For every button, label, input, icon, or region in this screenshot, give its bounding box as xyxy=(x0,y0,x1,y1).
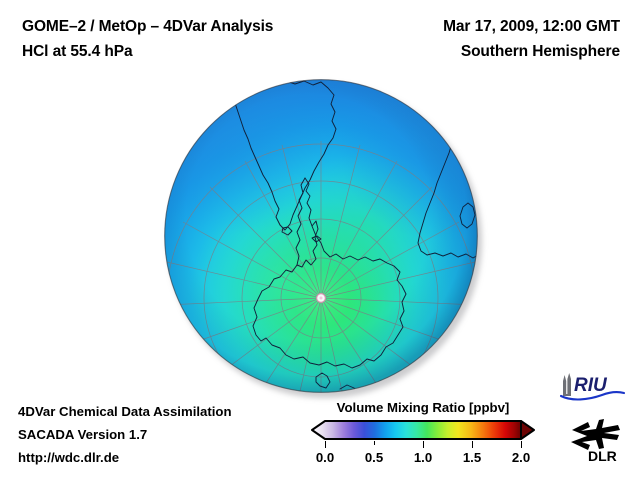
cb-label-15: 1.5 xyxy=(463,450,481,465)
cb-label-10: 1.0 xyxy=(414,450,432,465)
cb-label-0: 0.0 xyxy=(316,450,334,465)
colorbar-tick-labels: 0.0 0.5 1.0 1.5 2.0 xyxy=(305,450,541,470)
polar-globe-map xyxy=(164,79,478,393)
cb-label-20: 2.0 xyxy=(512,450,530,465)
south-pole-marker xyxy=(317,294,326,303)
credit-line-version: SACADA Version 1.7 xyxy=(18,423,232,446)
dlr-logo-svg: DLR xyxy=(566,413,628,463)
globe-limb-shading xyxy=(165,80,478,393)
cb-label-05: 0.5 xyxy=(365,450,383,465)
header-right-block: Mar 17, 2009, 12:00 GMT Southern Hemisph… xyxy=(443,14,620,64)
colorbar-gradient-body xyxy=(312,421,521,439)
cb-tick-15 xyxy=(472,441,473,448)
colorbar-title: Volume Mixing Ratio [ppbv] xyxy=(307,400,539,415)
dlr-wordmark: DLR xyxy=(588,448,617,463)
colorbar-svg xyxy=(305,419,541,441)
cb-tick-20 xyxy=(521,441,522,448)
analysis-title: GOME–2 / MetOp – 4DVar Analysis xyxy=(22,14,273,39)
dlr-aircraft-icon xyxy=(571,419,620,450)
globe-svg xyxy=(164,79,478,393)
cb-tick-10 xyxy=(423,441,424,448)
header-left-block: GOME–2 / MetOp – 4DVar Analysis HCl at 5… xyxy=(22,14,273,64)
cb-tick-minor-075 xyxy=(374,441,375,445)
riu-logo: RIU xyxy=(558,372,626,402)
globe-disk xyxy=(164,79,478,393)
region-label: Southern Hemisphere xyxy=(443,39,620,64)
colorbar-strip xyxy=(305,419,541,441)
credit-line-url[interactable]: http://wdc.dlr.de xyxy=(18,446,232,469)
riu-wordmark: RIU xyxy=(574,375,608,396)
colorbar-block: Volume Mixing Ratio [ppbv] xyxy=(305,400,545,470)
riu-logo-svg: RIU xyxy=(558,372,626,402)
colorbar-extend-arrow-right xyxy=(521,421,534,439)
riu-cathedral-icon xyxy=(563,373,571,396)
colorbar-ticks xyxy=(305,441,541,449)
credit-line-assimilation: 4DVar Chemical Data Assimilation xyxy=(18,400,232,423)
dlr-logo: DLR xyxy=(566,413,628,463)
cb-tick-0 xyxy=(325,441,326,448)
footer-credits-block: 4DVar Chemical Data Assimilation SACADA … xyxy=(18,400,232,469)
timestamp-label: Mar 17, 2009, 12:00 GMT xyxy=(443,14,620,39)
species-level-subtitle: HCl at 55.4 hPa xyxy=(22,39,273,64)
coast-australia-edge xyxy=(224,375,249,388)
